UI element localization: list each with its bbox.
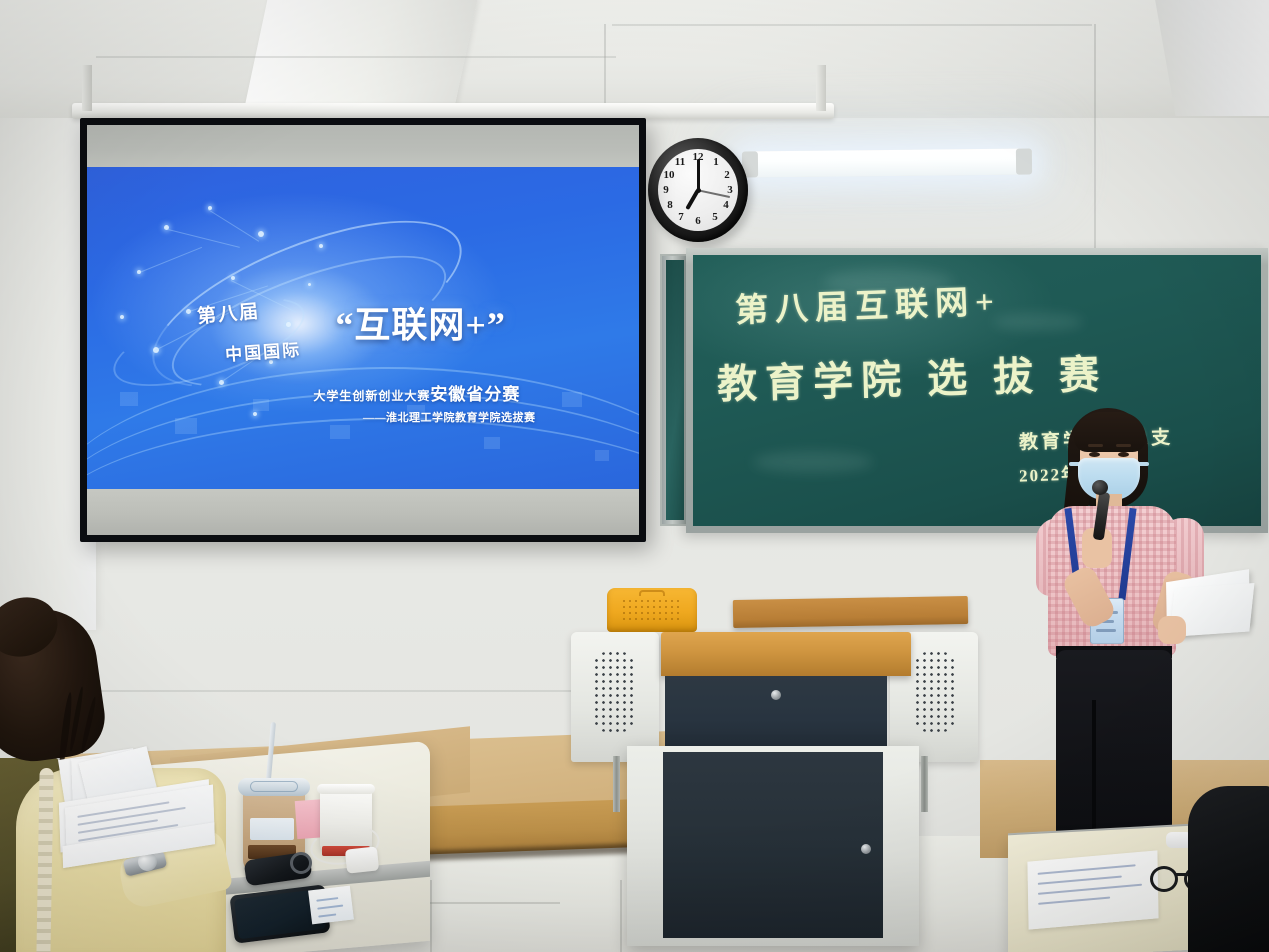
cabinet-lock-icon[interactable] [861,844,871,854]
clock-center-pin [696,188,701,193]
clock-face: 12 1 2 3 4 5 6 7 8 9 10 11 [658,149,738,231]
lectern-leg [613,756,620,812]
speaker-grille-icon [914,650,956,734]
slide-line-3: “互联网+” [335,296,506,348]
wooden-board [733,596,968,628]
slide-line-2: 中国国际 [224,335,302,365]
key-ring-icon [290,852,312,874]
clock-numeral: 9 [659,185,673,196]
lectern-cabinet-door[interactable] [663,752,883,938]
wall-seam-b [1094,24,1096,274]
chair-handle [639,590,665,596]
lectern-leg [921,756,928,812]
chair-perforation [621,598,681,622]
projection-screen: 第八届 中国国际 “互联网+” 大学生创新创业大赛安徽省分赛 ——淮北理工学院教… [80,118,646,542]
clock-numeral: 8 [663,200,677,211]
microphone-head-icon[interactable] [1092,480,1108,495]
fluorescent-tube-light [742,148,1032,177]
wall-clock: 12 1 2 3 4 5 6 7 8 9 10 11 [648,138,752,248]
clock-minute-hand [697,159,700,190]
wall-seam-d [612,24,1092,26]
ceiling-beam-right [1154,0,1269,116]
slide-line-1: 第八届 [196,296,261,328]
attendee-right [1188,786,1269,952]
scoring-sheet[interactable] [1027,850,1158,929]
cup-label [250,818,294,840]
lectern-worktop [661,632,911,676]
classroom-scene: 12 1 2 3 4 5 6 7 8 9 10 11 [0,0,1269,952]
clock-numeral: 10 [662,170,676,181]
charger-block[interactable] [345,846,379,873]
presentation-slide: 第八届 中国国际 “互联网+” 大学生创新创业大赛安徽省分赛 ——淮北理工学院教… [87,167,639,489]
lectern-cabinet [627,746,919,946]
presenter-eye [1118,452,1129,457]
lectern-upper-panel [665,676,887,748]
note-card[interactable] [308,886,354,925]
speaker-grille-icon [593,650,635,734]
lectern[interactable] [565,588,985,952]
clock-numeral: 2 [720,170,734,181]
clock-numeral: 1 [709,157,723,168]
clock-numeral: 11 [673,157,687,168]
floor-tile-line [430,880,432,952]
presenter-eye [1089,452,1100,457]
screen-band-bottom [87,489,639,535]
lectern-lock-icon[interactable] [771,690,781,700]
clock-numeral: 6 [691,216,705,227]
eyeglass-lens [1150,866,1178,892]
paper-cup-rim [317,784,375,794]
ceiling [0,0,1269,118]
presenter-hand-right [1158,616,1186,644]
slide-line-4-big: 安徽省分赛 [430,385,520,404]
presenter-fringe [1074,412,1146,452]
wall-seam-c [96,56,616,58]
lectern-speaker-cabinet-left [571,632,659,762]
projection-screen-rail [72,103,834,119]
clock-numeral: 5 [708,212,722,223]
slide-line-4: 大学生创新创业大赛安徽省分赛 [313,380,520,405]
clock-numeral: 7 [674,212,688,223]
slide-line-4-small: 大学生创新创业大赛 [313,389,430,403]
blackboard-line-1: 第八届互联网+ [734,274,1001,331]
clock-numeral: 4 [719,200,733,211]
screen-band-top [87,125,639,167]
slide-line-5: ——淮北理工学院教育学院选拔赛 [363,409,536,425]
